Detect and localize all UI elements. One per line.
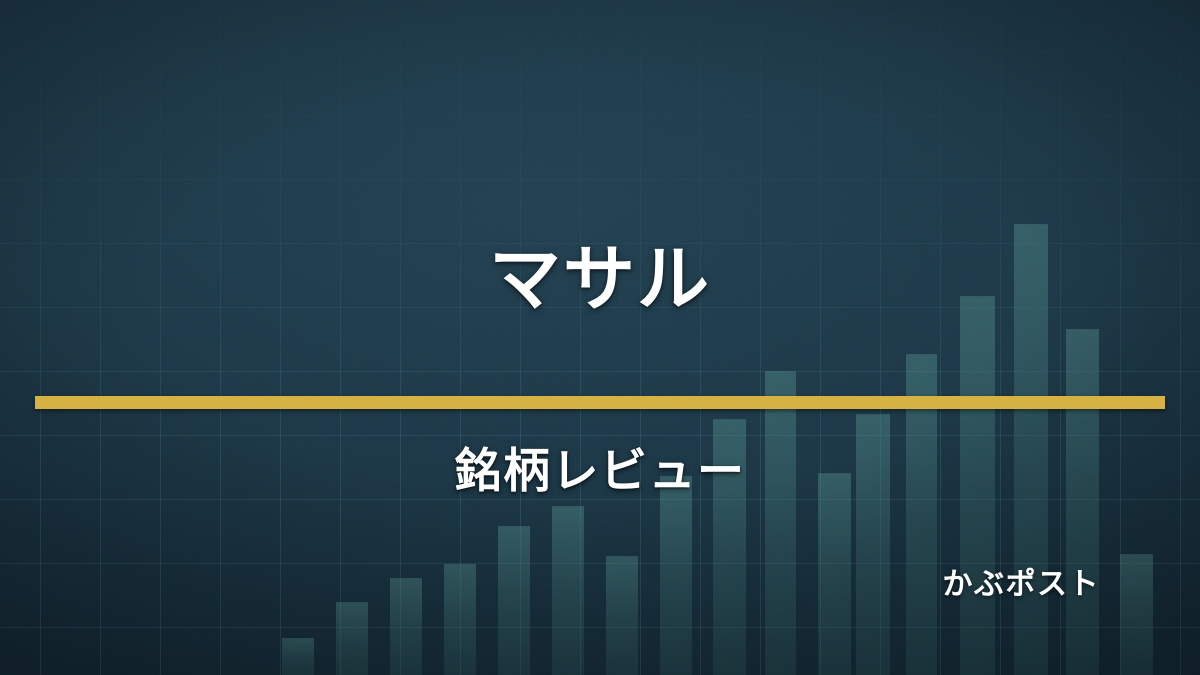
brand-label: かぶポスト xyxy=(943,570,1101,600)
gold-divider-rule xyxy=(35,396,1165,409)
page-subtitle: 銘柄レビュー xyxy=(0,448,1200,495)
page-title: マサル xyxy=(0,243,1200,315)
title-slide: マサル 銘柄レビュー かぶポスト xyxy=(0,0,1200,675)
slide-content: マサル 銘柄レビュー かぶポスト xyxy=(0,0,1200,675)
